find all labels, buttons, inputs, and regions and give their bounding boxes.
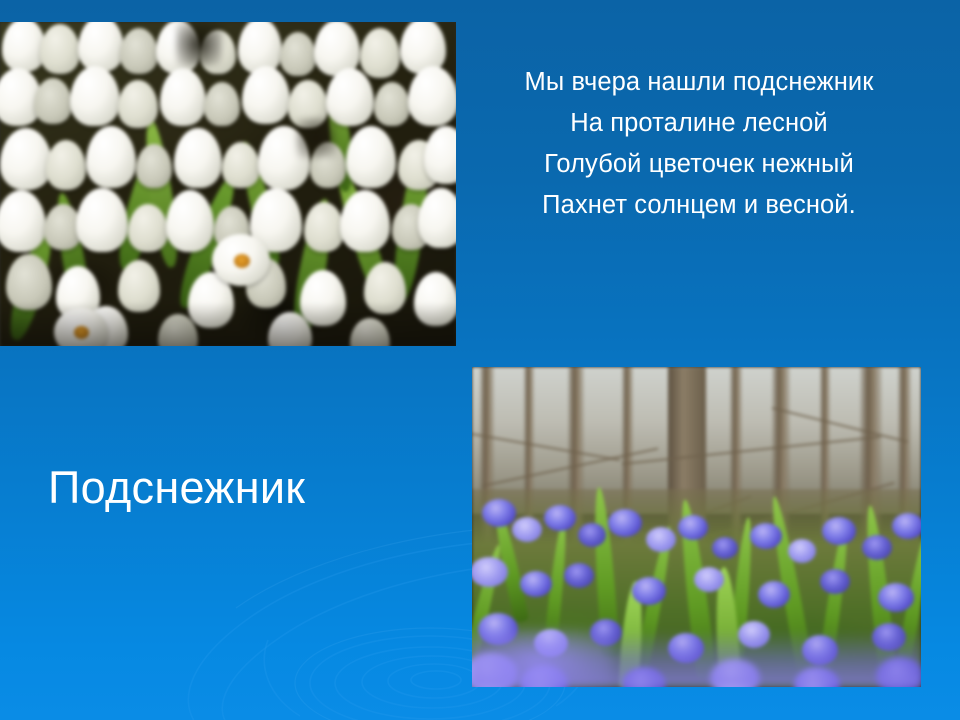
poem-line-3: Голубой цветочек нежный [464, 144, 934, 185]
poem-line-2: На проталине лесной [464, 103, 934, 144]
slide-title: Подснежник [48, 462, 305, 514]
poem-text-block: Мы вчера нашли подснежник На проталине л… [464, 62, 934, 226]
presentation-slide: Мы вчера нашли подснежник На проталине л… [0, 0, 960, 720]
white-snowdrops-photo [0, 22, 456, 346]
poem-line-1: Мы вчера нашли подснежник [464, 62, 934, 103]
poem-line-4: Пахнет солнцем и весной. [464, 185, 934, 226]
blue-scilla-photo [472, 367, 921, 687]
